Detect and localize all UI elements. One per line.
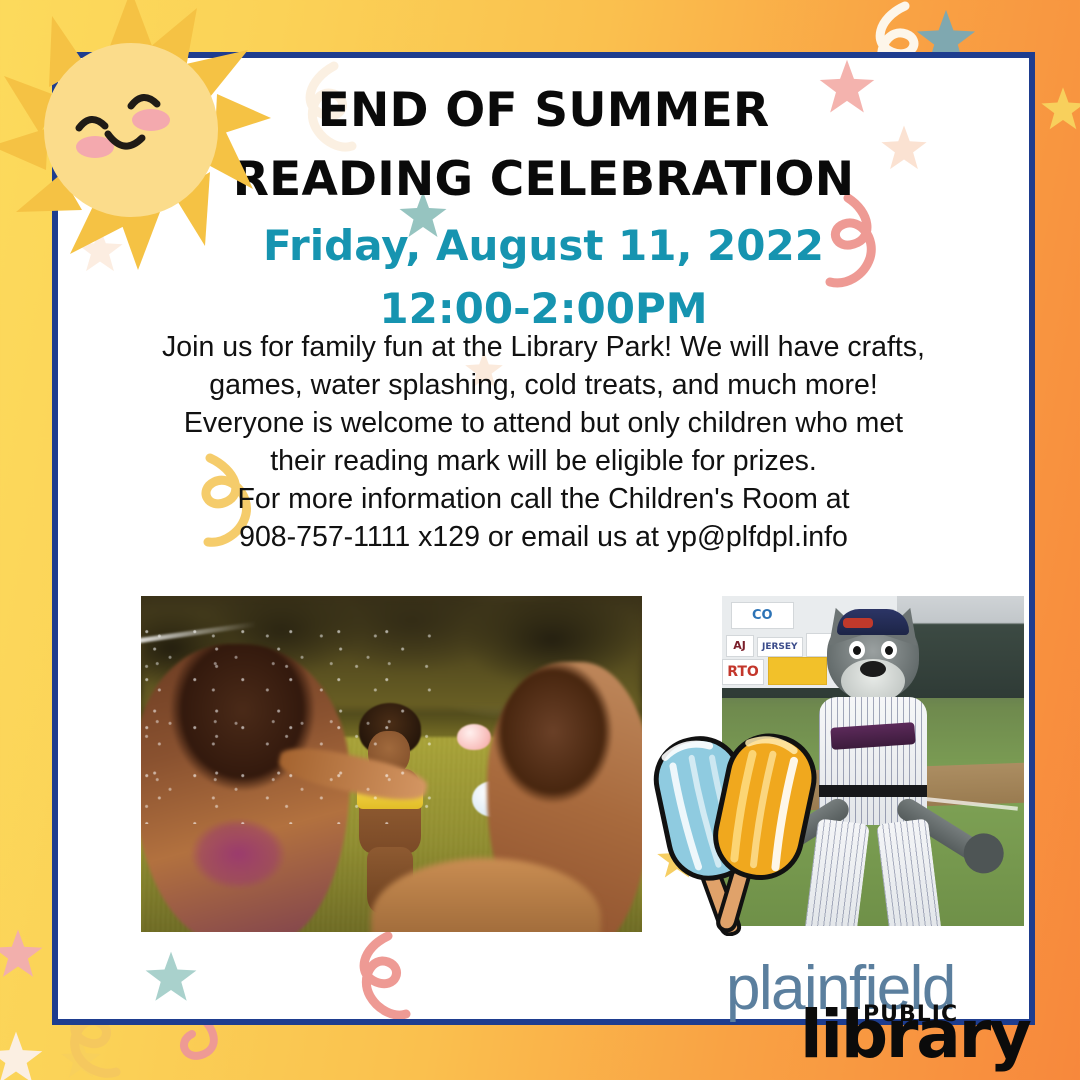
popsicle-svg (646, 726, 826, 936)
mascot-eye (881, 641, 897, 659)
mascot-leg (876, 819, 944, 926)
star-icon (0, 930, 42, 977)
sun-face (44, 43, 218, 217)
library-logo: plainfield PUBLIC library (678, 958, 998, 1068)
mascot-legs (810, 821, 936, 926)
mascot-belt (819, 785, 927, 797)
photo-water-spray (141, 623, 432, 825)
description-line: Everyone is welcome to attend but only c… (98, 404, 989, 442)
mascot-cap (837, 609, 909, 635)
star-icon (61, 1039, 100, 1077)
description-line: Join us for family fun at the Library Pa… (98, 328, 989, 366)
mascot-jersey-logo (830, 722, 915, 750)
description-line: their reading mark will be eligible for … (98, 442, 989, 480)
mascot-jersey (819, 697, 927, 825)
sun-cheek-right (132, 109, 170, 131)
description-line: For more information call the Children's… (98, 480, 989, 518)
photo-children-water-play (141, 596, 642, 932)
sun-icon (0, 0, 276, 274)
description-line: 908-757-1111 x129 or email us at yp@plfd… (98, 518, 989, 556)
mascot-nose (860, 661, 886, 677)
mascot-head (827, 615, 919, 701)
photo-water-balloon (457, 724, 491, 750)
logo-word-library: library (800, 1002, 1030, 1068)
mascot-eye (849, 641, 865, 659)
star-icon (1041, 87, 1080, 129)
event-description: Join us for family fun at the Library Pa… (98, 328, 989, 556)
popsicle-illustration (646, 726, 826, 936)
sun-illustration (0, 0, 276, 274)
star-icon (0, 1032, 42, 1080)
description-line: games, water splashing, cold treats, and… (98, 366, 989, 404)
